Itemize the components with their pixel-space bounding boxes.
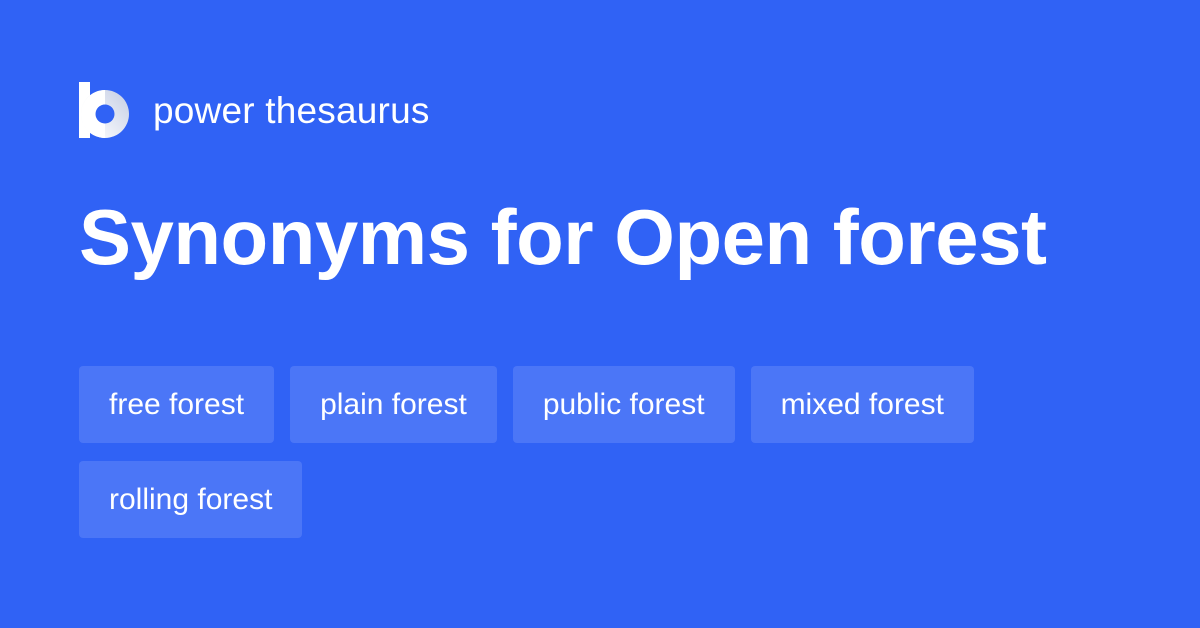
brand-name: power thesaurus bbox=[153, 92, 430, 129]
page-title: Synonyms for Open forest bbox=[79, 198, 1047, 276]
synonyms-share-card: power thesaurus Synonyms for Open forest… bbox=[0, 0, 1200, 628]
power-thesaurus-b-logo-icon bbox=[79, 82, 131, 138]
synonym-tag[interactable]: free forest bbox=[79, 366, 274, 443]
synonym-tag[interactable]: rolling forest bbox=[79, 461, 302, 538]
synonym-tag-list: free forest plain forest public forest m… bbox=[79, 366, 1119, 538]
synonym-tag[interactable]: public forest bbox=[513, 366, 735, 443]
synonym-tag[interactable]: plain forest bbox=[290, 366, 497, 443]
synonym-tag[interactable]: mixed forest bbox=[751, 366, 974, 443]
brand-logo[interactable]: power thesaurus bbox=[79, 82, 430, 138]
